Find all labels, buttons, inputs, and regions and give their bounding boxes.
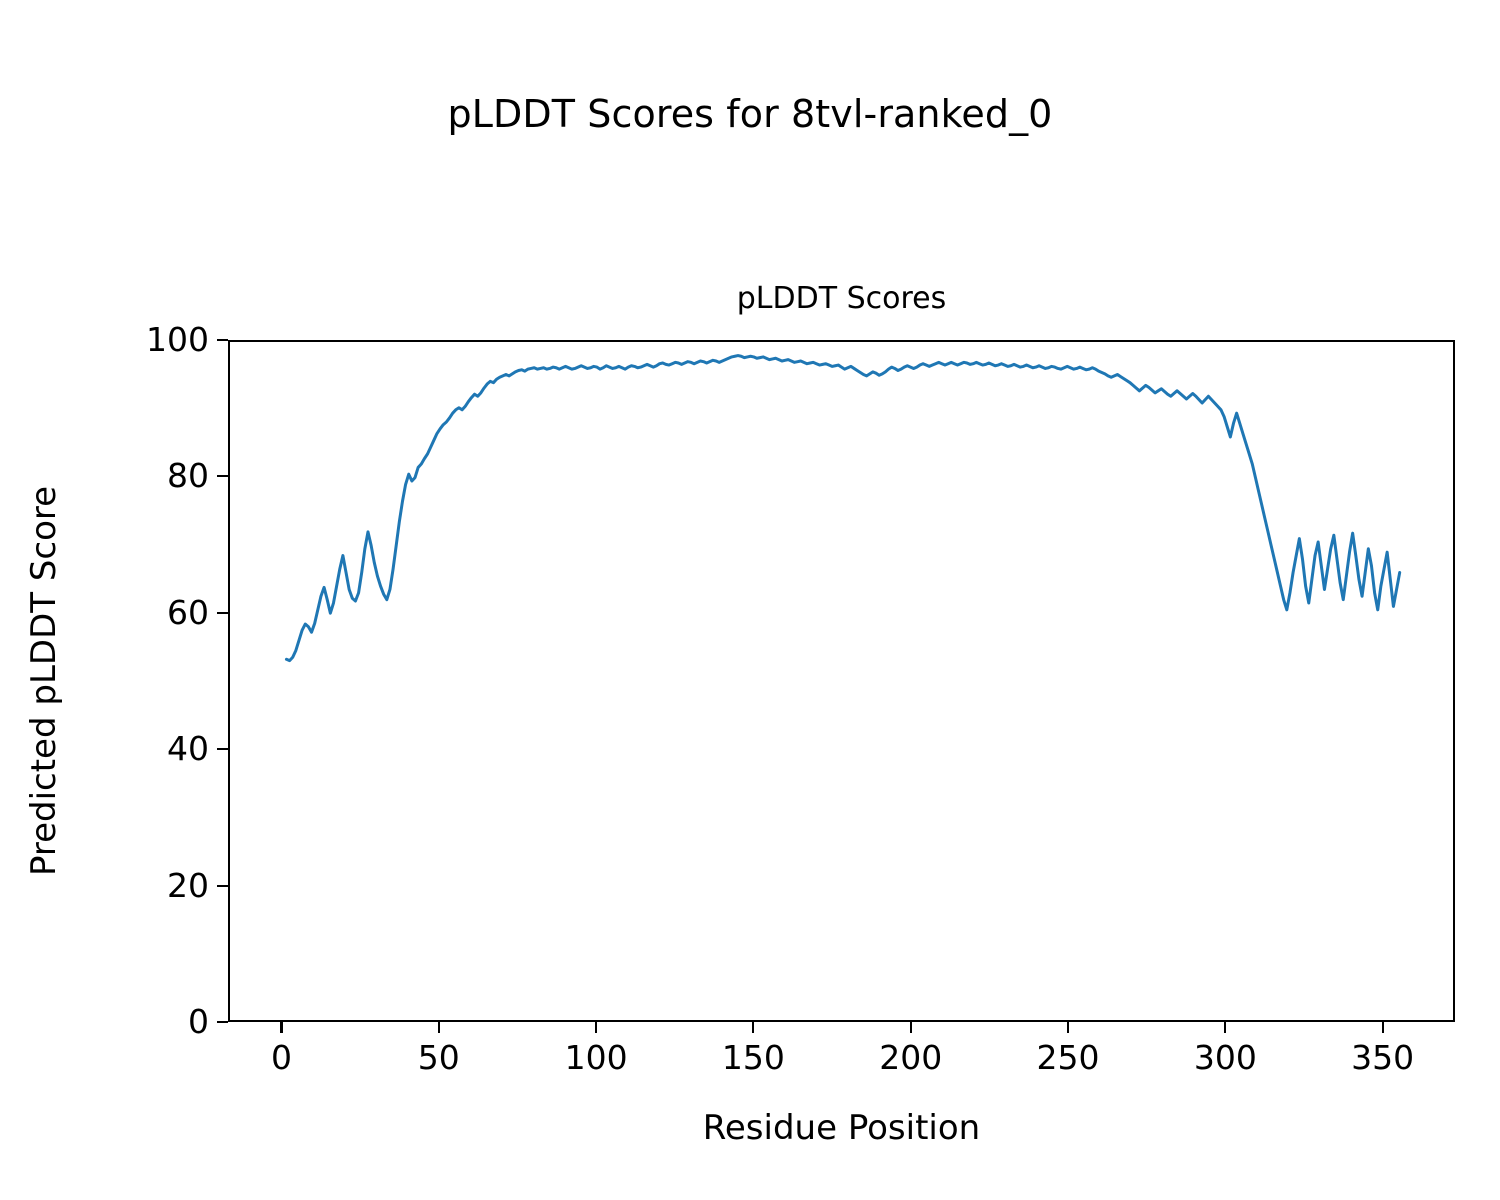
y-tick-label: 60 <box>99 596 209 629</box>
x-tick-mark <box>595 1022 597 1033</box>
plddt-line-chart <box>230 342 1453 1020</box>
plddt-series-line <box>286 356 1399 661</box>
x-tick-label: 0 <box>211 1041 351 1074</box>
y-tick-mark <box>217 612 228 614</box>
y-tick-label: 20 <box>99 869 209 902</box>
x-tick-label: 350 <box>1313 1041 1453 1074</box>
y-tick-mark <box>217 885 228 887</box>
x-tick-label: 300 <box>1155 1041 1295 1074</box>
y-tick-mark <box>217 339 228 341</box>
x-tick-mark <box>910 1022 912 1033</box>
y-tick-label: 100 <box>99 323 209 356</box>
y-axis-label-text: Predicted pLDDT Score <box>24 486 64 876</box>
y-tick-mark <box>217 748 228 750</box>
y-tick-mark <box>217 475 228 477</box>
x-tick-mark <box>280 1022 282 1033</box>
x-tick-label: 100 <box>526 1041 666 1074</box>
figure-suptitle: pLDDT Scores for 8tvl-ranked_0 <box>0 92 1500 136</box>
x-tick-mark <box>752 1022 754 1033</box>
y-axis-label: Predicted pLDDT Score <box>22 340 66 1022</box>
y-tick-label: 80 <box>99 459 209 492</box>
x-tick-label: 250 <box>998 1041 1138 1074</box>
x-tick-label: 150 <box>683 1041 823 1074</box>
figure-canvas: pLDDT Scores for 8tvl-ranked_0 pLDDT Sco… <box>0 0 1500 1200</box>
axes-title: pLDDT Scores <box>228 281 1455 316</box>
x-tick-label: 50 <box>369 1041 509 1074</box>
x-tick-mark <box>1382 1022 1384 1033</box>
y-tick-mark <box>217 1021 228 1023</box>
x-tick-label: 200 <box>841 1041 981 1074</box>
plot-area <box>228 340 1455 1022</box>
x-axis-label: Residue Position <box>228 1108 1455 1148</box>
x-tick-mark <box>1224 1022 1226 1033</box>
y-tick-label: 40 <box>99 732 209 765</box>
x-tick-mark <box>438 1022 440 1033</box>
y-tick-label: 0 <box>99 1005 209 1038</box>
x-tick-mark <box>1067 1022 1069 1033</box>
